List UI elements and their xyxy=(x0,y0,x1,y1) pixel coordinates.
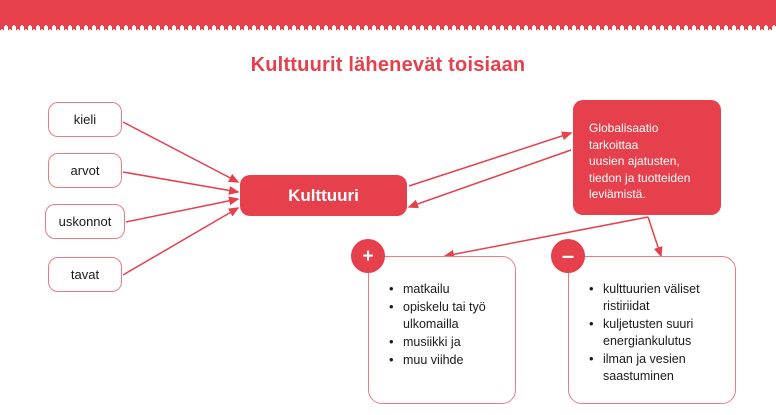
plus-badge-icon: + xyxy=(351,239,385,273)
node-tavat[interactable]: tavat xyxy=(48,257,122,292)
globalisaatio-line-3: uusien ajatusten, xyxy=(589,153,721,170)
slide-canvas: Kulttuurit lähenevät toisiaan kieli arvo… xyxy=(0,0,776,415)
node-kulttuuri-label: Kulttuuri xyxy=(288,186,359,206)
arrow-arvot-to-kulttuuri xyxy=(123,172,238,192)
node-globalisaatio[interactable]: Globalisaatio tarkoittaa uusien ajatuste… xyxy=(573,100,721,215)
minus-badge-icon: – xyxy=(551,239,585,273)
node-kulttuuri[interactable]: Kulttuuri xyxy=(240,175,407,216)
list-item: kuljetusten suuri energiankulutus xyxy=(603,316,727,350)
node-arvot[interactable]: arvot xyxy=(48,153,122,188)
arrow-kulttuuri-to-globalisaatio xyxy=(409,133,571,186)
arrow-globalisaatio-to-kulttuuri xyxy=(409,150,571,207)
node-tavat-label: tavat xyxy=(71,267,99,282)
globalisaatio-line-2: tarkoittaa xyxy=(589,137,721,154)
page-title: Kulttuurit lähenevät toisiaan xyxy=(0,54,776,77)
arrow-globalisaatio-to-positives xyxy=(445,217,648,256)
node-arvot-label: arvot xyxy=(71,163,100,178)
node-uskonnot[interactable]: uskonnot xyxy=(45,204,125,239)
node-kieli[interactable]: kieli xyxy=(48,102,122,137)
header-banner xyxy=(0,0,776,22)
header-banner-sawtooth-edge xyxy=(0,22,776,31)
arrow-tavat-to-kulttuuri xyxy=(123,208,238,275)
arrow-uskonnot-to-kulttuuri xyxy=(126,199,238,222)
node-positive-effects[interactable]: + matkailu opiskelu tai työ ulkomailla m… xyxy=(368,256,516,404)
arrow-kieli-to-kulttuuri xyxy=(123,122,238,182)
node-kieli-label: kieli xyxy=(74,112,96,127)
list-item: musiikki ja xyxy=(403,334,507,351)
node-uskonnot-label: uskonnot xyxy=(59,214,112,229)
node-negative-effects[interactable]: – kulttuurien väliset ristiriidat kuljet… xyxy=(568,256,736,404)
globalisaatio-line-5: leviämistä. xyxy=(589,186,721,203)
negative-effects-list: kulttuurien väliset ristiriidat kuljetus… xyxy=(569,257,735,385)
positive-effects-list: matkailu opiskelu tai työ ulkomailla mus… xyxy=(369,257,515,369)
list-item: opiskelu tai työ ulkomailla xyxy=(403,299,507,333)
list-item: ilman ja vesien saastuminen xyxy=(603,351,727,385)
globalisaatio-line-1: Globalisaatio xyxy=(589,120,721,137)
globalisaatio-line-4: tiedon ja tuotteiden xyxy=(589,170,721,187)
list-item: muu viihde xyxy=(403,352,507,369)
list-item: matkailu xyxy=(403,281,507,298)
list-item: kulttuurien väliset ristiriidat xyxy=(603,281,727,315)
arrow-globalisaatio-to-negatives xyxy=(648,217,661,256)
